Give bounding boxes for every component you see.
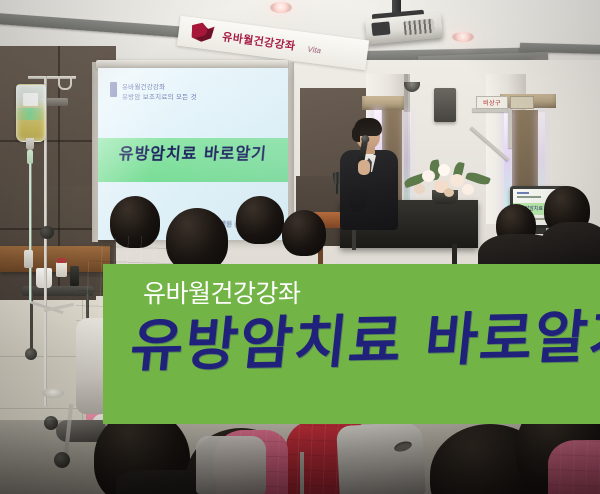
chair-leg xyxy=(300,452,304,494)
exit-sign: 비상구 xyxy=(476,96,508,109)
slide-title: 유방암치료 바로알기 xyxy=(98,140,288,164)
monitor-line xyxy=(517,196,541,198)
bottle xyxy=(70,266,79,286)
flower-arrangement xyxy=(400,158,494,204)
slide-bullet-icon xyxy=(110,82,117,97)
projector-vent xyxy=(403,19,434,36)
iv-drip-chamber xyxy=(27,150,33,164)
audience-head xyxy=(282,210,326,256)
wall-speaker xyxy=(434,88,456,122)
wall-bracket xyxy=(472,108,512,148)
iv-hook-icon xyxy=(58,76,72,90)
window-valance xyxy=(362,96,404,110)
hall-banner-text: 유바월건강강좌 xyxy=(221,28,296,53)
audience-pink-jacket xyxy=(548,440,600,494)
flower-logo-icon xyxy=(188,21,216,44)
cup xyxy=(56,262,67,277)
audience-head xyxy=(236,196,284,244)
slide-heading-line1: 유바월건강강좌 xyxy=(122,81,165,91)
caster-wheel xyxy=(44,416,58,430)
caster-wheel xyxy=(25,348,37,360)
monitor-line xyxy=(517,192,529,194)
iv-height-knob xyxy=(40,226,54,239)
overlay-banner: 유바월건강강좌 유방암치료 바로알기 xyxy=(103,264,600,424)
chair-back xyxy=(196,436,266,494)
banner-title-text: 유방암치료 바로알기 xyxy=(128,309,600,375)
presenter-hand xyxy=(358,160,370,175)
iv-neck xyxy=(26,138,34,150)
presenter-hair xyxy=(352,126,360,142)
slide-heading-line2: 유방암 보조치료의 모든 것 xyxy=(122,91,197,101)
banner-kicker-text: 유바월건강강좌 xyxy=(143,281,301,306)
iv-bag-highlight xyxy=(14,108,46,120)
iv-tubing xyxy=(31,163,32,303)
screenshot-root: 유바월건강강좌 Vita 비상구 유바월건강강좌 유방암 보조치료의 xyxy=(0,0,600,494)
chair-back xyxy=(336,422,426,494)
ceiling-downlight-icon xyxy=(452,32,474,42)
hall-banner-sub: Vita xyxy=(307,45,322,56)
iv-roller-clamp xyxy=(24,250,33,268)
ceiling-downlight-icon xyxy=(270,2,292,13)
exit-sign-label: 비상구 xyxy=(483,98,501,107)
iv-base xyxy=(42,388,64,398)
caster-wheel xyxy=(54,452,70,468)
secondary-sign xyxy=(510,96,534,109)
